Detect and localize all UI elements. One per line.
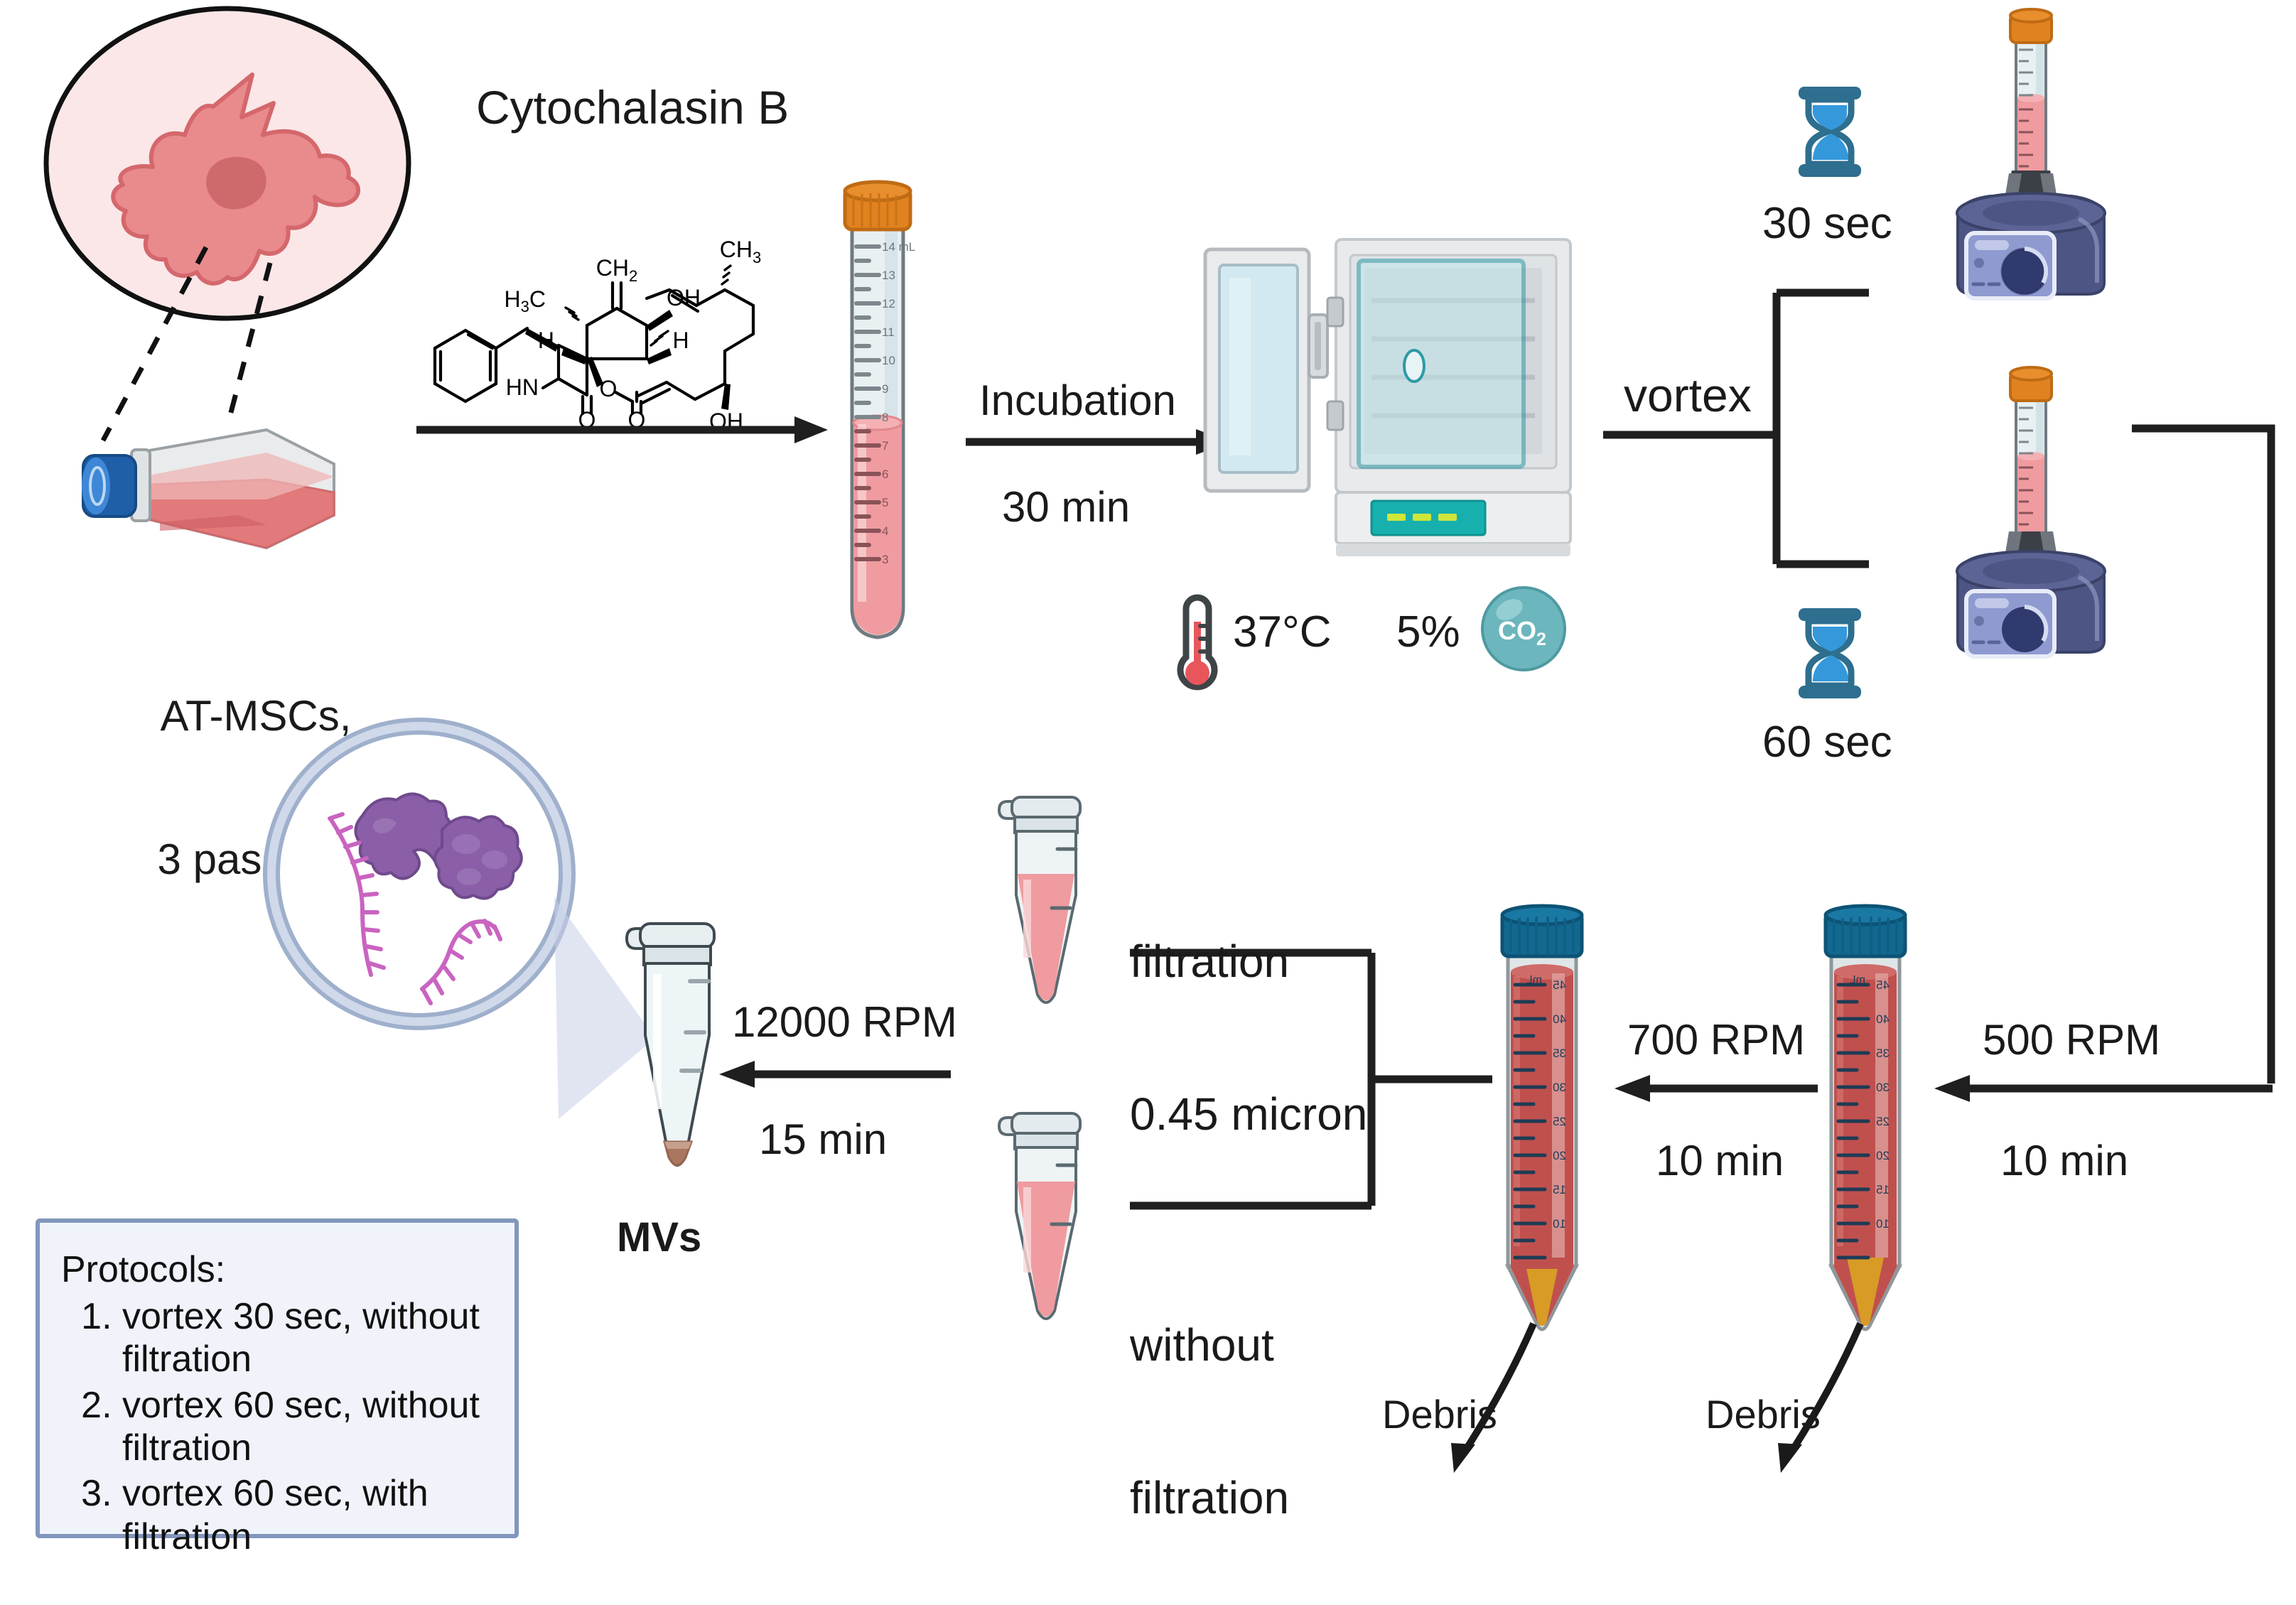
svg-text:10: 10 (1553, 1217, 1566, 1231)
vortex-duration-2: 60 sec (1762, 718, 1892, 767)
svg-text:4: 4 (882, 524, 888, 538)
svg-text:11: 11 (882, 325, 895, 339)
hourglass-icon-30sec (1794, 84, 1865, 180)
co2-incubator (1201, 224, 1599, 565)
culture-flask (53, 409, 338, 586)
svg-text:H: H (672, 328, 689, 353)
incubation-duration: 30 min (1002, 483, 1130, 531)
spin1-speed: 500 RPM (1983, 1016, 2160, 1064)
filtration-label-line1: filtration (1130, 936, 1367, 988)
svg-text:12: 12 (882, 297, 895, 310)
svg-text:8: 8 (882, 411, 888, 424)
arrow-spin1 (1933, 1073, 2274, 1104)
svg-text:20: 20 (1876, 1149, 1890, 1162)
arrow-final-spin (718, 1059, 952, 1090)
svg-text:OH: OH (667, 285, 701, 310)
co2-bubble-icon: CO2 (1480, 584, 1568, 673)
filtration-label-line2: 0.45 micron (1130, 1089, 1367, 1140)
svg-text:7: 7 (882, 439, 888, 453)
protocols-box: Protocols: vortex 30 sec, without filtra… (36, 1218, 519, 1538)
svg-text:CH2: CH2 (596, 255, 637, 285)
svg-text:14 mL: 14 mL (882, 240, 915, 254)
svg-text:mL: mL (1526, 974, 1542, 986)
final-spin-duration: 15 min (759, 1115, 887, 1163)
thermometer-icon (1176, 592, 1219, 698)
hourglass-icon-60sec (1794, 605, 1865, 701)
svg-text:15: 15 (1553, 1183, 1566, 1196)
svg-text:25: 25 (1876, 1115, 1890, 1128)
eppendorf-tube-nofiltration (981, 1105, 1101, 1339)
svg-text:HN: HN (506, 374, 539, 400)
svg-text:9: 9 (882, 382, 888, 396)
incubation-label: Incubation (979, 377, 1176, 424)
svg-text:30: 30 (1553, 1081, 1566, 1094)
protocol-item-2: vortex 60 sec, without filtration (122, 1384, 493, 1470)
svg-text:H: H (538, 328, 554, 353)
svg-text:6: 6 (882, 468, 888, 481)
protocols-list: vortex 30 sec, without filtration vortex… (61, 1295, 493, 1558)
without-filtration-label: without filtration (1130, 1218, 1289, 1605)
figure-canvas: AT-MSCs, 3 passage Cytochalasin B (0, 0, 2296, 1605)
mvs-label: MVs (617, 1215, 701, 1261)
svg-text:25: 25 (1553, 1115, 1566, 1128)
protocols-heading: Protocols: (61, 1248, 493, 1291)
protocol-item-1: vortex 30 sec, without filtration (122, 1295, 493, 1381)
svg-text:35: 35 (1553, 1047, 1566, 1060)
reagent-title: Cytochalasin B (476, 82, 789, 134)
spin2-speed: 700 RPM (1627, 1016, 1805, 1064)
svg-text:35: 35 (1876, 1047, 1890, 1060)
svg-text:mL: mL (1850, 974, 1865, 986)
cytochalasin-b-structure: CH2 H3C OH CH3 H H HN O O O OH (419, 206, 817, 419)
arrow-spin2 (1613, 1073, 1819, 1104)
debris-label-2: Debris (1382, 1393, 1497, 1437)
spin1-duration: 10 min (2000, 1137, 2128, 1184)
svg-text:13: 13 (882, 269, 895, 282)
svg-text:H3C: H3C (505, 286, 546, 315)
vortex-mixer-2 (1929, 364, 2150, 655)
vortex-mixer-1 (1929, 6, 2150, 297)
svg-text:45: 45 (1553, 978, 1566, 992)
svg-text:15: 15 (1876, 1183, 1890, 1196)
protocol-item-3: vortex 60 sec, with filtration (122, 1472, 493, 1558)
falcon-tube-500rpm: 454035 302520 1510 mL (1816, 902, 1915, 1343)
final-spin-speed: 12000 RPM (732, 998, 957, 1046)
svg-text:45: 45 (1876, 978, 1890, 992)
svg-text:40: 40 (1876, 1012, 1890, 1026)
without-filtration-line2: filtration (1130, 1473, 1289, 1524)
arrow-incubation (963, 426, 1233, 458)
spin2-duration: 10 min (1656, 1137, 1784, 1184)
svg-text:3: 3 (882, 553, 888, 566)
without-filtration-line1: without (1130, 1320, 1289, 1371)
eppendorf-tube-filtration (981, 789, 1101, 1023)
connector-vortex-to-spin1 (2132, 423, 2285, 1094)
svg-text:O: O (600, 376, 618, 401)
svg-text:10: 10 (882, 354, 895, 367)
svg-text:5: 5 (882, 496, 888, 509)
tube-15ml: 14 mL1312 11109 8 765 43 (835, 181, 920, 643)
incubator-temperature: 37°C (1233, 607, 1332, 656)
falcon-tube-700rpm: 454035 302520 1510 mL (1492, 902, 1592, 1343)
arrow-flask-to-tube (412, 412, 831, 448)
svg-text:30: 30 (1876, 1081, 1890, 1094)
debris-label-1: Debris (1705, 1393, 1821, 1437)
eppendorf-tube-mvs (608, 913, 735, 1190)
svg-text:10: 10 (1876, 1217, 1890, 1231)
filtration-label: filtration 0.45 micron (1130, 835, 1367, 1242)
vortex-duration-1: 30 sec (1762, 199, 1892, 248)
svg-text:40: 40 (1553, 1012, 1566, 1026)
vortex-branch-bracket (1599, 284, 1869, 568)
svg-text:20: 20 (1553, 1149, 1566, 1162)
incubator-co2-percent: 5% (1396, 607, 1460, 656)
svg-text:CH3: CH3 (720, 237, 761, 266)
